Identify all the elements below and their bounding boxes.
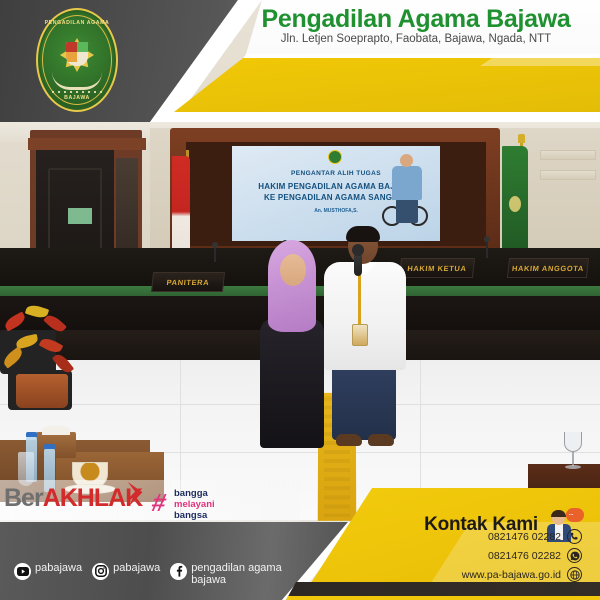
contact-website-value: www.pa-bajawa.go.id (462, 569, 561, 581)
microphone-icon (214, 246, 216, 262)
bottle-cap (26, 432, 37, 437)
flag-emblem-icon (509, 196, 521, 212)
instagram-icon[interactable] (92, 563, 109, 580)
man-shoe (336, 434, 362, 446)
header-banner: PENGADILAN AGAMA BAJAWA Pengadilan Agama… (0, 0, 600, 122)
social-youtube-handle: pabajawa (35, 562, 82, 574)
whatsapp-icon[interactable] (567, 548, 582, 563)
logo-shield-icon (66, 42, 88, 66)
bangga-melayani-bangsa-logo: # bangga melayani bangsa (152, 486, 272, 520)
contact-phone-value: 0821476 02282 (488, 531, 561, 543)
man-id-badge (352, 324, 368, 346)
logo-text-bottom: BAJAWA (36, 95, 118, 101)
potted-plant (0, 278, 92, 398)
social-instagram-handle: pabajawa (113, 562, 160, 574)
social-facebook[interactable]: pengadilan agama bajawa (170, 562, 283, 586)
door-sign (68, 208, 92, 224)
hashtag-icon: # (149, 491, 168, 516)
logo-text-top: PENGADILAN AGAMA (36, 20, 118, 26)
tissue-sheet (42, 426, 70, 435)
microphone-icon (486, 240, 488, 258)
court-logo: PENGADILAN AGAMA BAJAWA (36, 8, 118, 112)
contact-whatsapp-value: 0821476 02282 (488, 550, 561, 562)
person-man (322, 228, 408, 450)
footer-banner: BerAKHLAK # bangga melayani bangsa pabaj… (0, 480, 600, 600)
berakhlak-highlight: AKHLAK (43, 484, 143, 512)
berakhlak-prefix: Ber (4, 484, 43, 512)
man-hair (346, 226, 380, 242)
microphone-head-icon (352, 244, 364, 256)
social-instagram[interactable]: pabajawa (92, 562, 160, 580)
nameplate-hakim-anggota: HAKIM ANGGOTA (507, 258, 589, 278)
page-title: Pengadilan Agama Bajawa (236, 6, 596, 32)
woman-face (280, 254, 306, 286)
social-facebook-handle: pengadilan agama bajawa (191, 562, 283, 586)
door-lintel (28, 138, 146, 150)
bangga-line-3: bangsa (174, 511, 215, 522)
globe-icon[interactable] (567, 567, 582, 582)
phone-icon[interactable] (567, 529, 582, 544)
stemmed-glass (562, 432, 584, 472)
woman-dress (260, 318, 324, 448)
wall-slat (540, 170, 596, 180)
berakhlak-logo: BerAKHLAK (4, 486, 142, 511)
screen-logo-icon (328, 150, 342, 164)
man-trousers (332, 364, 396, 440)
flag-finial (518, 134, 525, 143)
chat-bubble-icon: ... (566, 508, 584, 522)
nameplate-hakim-ketua: HAKIM KETUA (399, 258, 475, 278)
social-youtube[interactable]: pabajawa (14, 562, 82, 580)
contact-rows: 0821476 02282 0821476 02282 www.pa-bajaw… (332, 529, 582, 586)
projection-screen: PENGANTAR ALIH TUGAS HAKIM PENGADILAN AG… (232, 146, 440, 241)
youtube-icon[interactable] (14, 563, 31, 580)
screen-photo-person (380, 152, 434, 232)
poster: PENGANTAR ALIH TUGAS HAKIM PENGADILAN AG… (0, 0, 600, 600)
bottle-cap (44, 444, 55, 449)
contact-row-phone[interactable]: 0821476 02282 (332, 529, 582, 544)
tissue-box (36, 432, 76, 458)
nameplate-panitera: PANITERA (151, 272, 225, 292)
man-lanyard (358, 274, 361, 326)
wall-slat (540, 150, 596, 160)
man-shirt (324, 262, 406, 370)
contact-row-whatsapp[interactable]: 0821476 02282 (332, 548, 582, 563)
facebook-icon[interactable] (170, 563, 187, 580)
social-links: pabajawa pabajawa pengadilan agama bajaw… (14, 562, 284, 586)
contact-row-website[interactable]: www.pa-bajawa.go.id (332, 567, 582, 582)
man-shoe (368, 434, 394, 446)
person-woman (256, 240, 328, 448)
page-subtitle: Jln. Letjen Soeprapto, Faobata, Bajawa, … (236, 33, 596, 45)
